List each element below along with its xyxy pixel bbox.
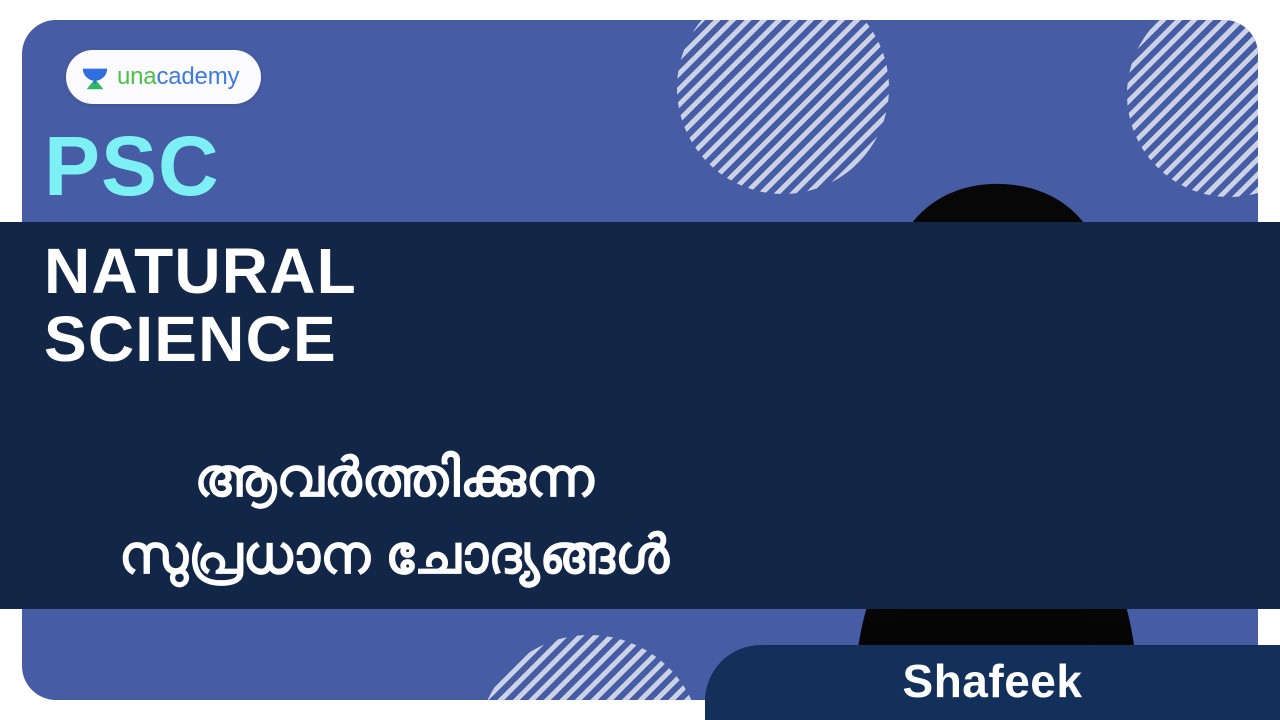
subtitle-line-1: ആവർത്തിക്കുന്ന bbox=[44, 440, 744, 517]
striped-circle-bottom-decoration bbox=[477, 635, 702, 700]
unacademy-bowl-icon bbox=[80, 62, 110, 92]
title-line-1: NATURAL bbox=[44, 238, 357, 306]
subtitle-line-2: സുപ്രധാന ചോദ്യങ്ങൾ bbox=[44, 517, 744, 594]
subtitle: ആവർത്തിക്കുന്ന സുപ്രധാന ചോദ്യങ്ങൾ bbox=[44, 440, 744, 593]
wordmark-segment-blue: cademy bbox=[156, 63, 239, 90]
unacademy-wordmark: unacademy bbox=[117, 65, 239, 89]
title-line-2: SCIENCE bbox=[44, 306, 357, 374]
page-title: NATURAL SCIENCE bbox=[44, 238, 357, 374]
presenter-name: Shafeek bbox=[903, 658, 1083, 708]
wordmark-segment-green: una bbox=[117, 63, 156, 90]
presenter-name-banner: Shafeek bbox=[705, 645, 1280, 720]
unacademy-logo-pill[interactable]: unacademy bbox=[66, 50, 261, 104]
eyebrow-psc: PSC bbox=[44, 124, 220, 208]
thumbnail-canvas: unacademy unacademy PSC NATURAL SCIENCE … bbox=[0, 0, 1280, 720]
